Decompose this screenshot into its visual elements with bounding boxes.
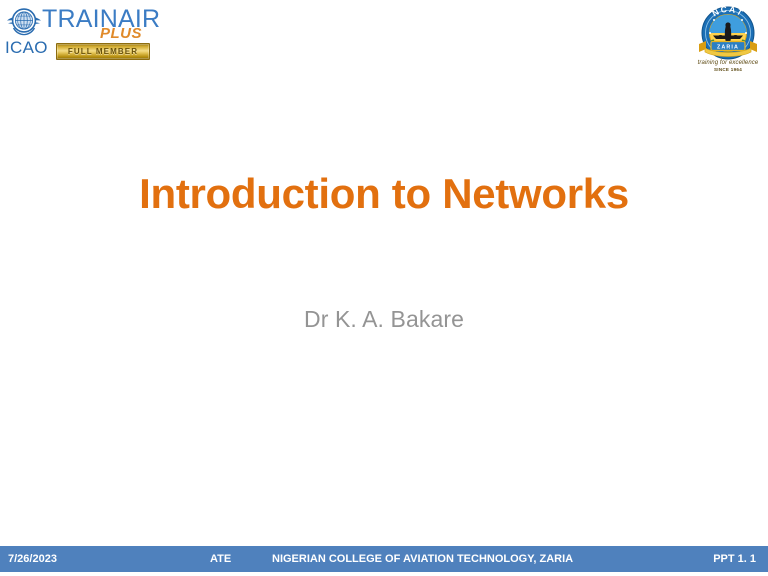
footer-date: 7/26/2023 [8,546,57,572]
full-member-badge-label: FULL MEMBER [57,44,149,59]
svg-text:ZARIA: ZARIA [717,44,739,50]
full-member-badge: FULL MEMBER [56,43,150,60]
icao-label: ICAO [5,39,48,57]
ncat-motto: training for excellence [694,59,762,67]
presentation-slide: ICAO TRAINAIR PLUS FULL MEMBER [0,0,768,576]
ncat-zaria-logo: NCAT ZARIA training for [694,2,762,78]
slide-subtitle-author: Dr K. A. Bakare [0,304,768,334]
slide-footer-bar: 7/26/2023 ATE NIGERIAN COLLEGE OF AVIATI… [0,546,768,572]
footer-slide-reference: PPT 1. 1 [713,546,756,572]
footer-department: ATE [210,546,231,572]
trainair-plus-logo: ICAO TRAINAIR PLUS FULL MEMBER [4,4,150,62]
page-title: Introduction to Networks [0,168,768,220]
icao-winged-globe-icon [6,4,42,38]
footer-organization: NIGERIAN COLLEGE OF AVIATION TECHNOLOGY,… [272,546,573,572]
ncat-since-year: SINCE 1964 [694,67,762,73]
trainair-plus-suffix: PLUS [100,26,142,42]
ncat-seal-icon: NCAT ZARIA [694,2,762,62]
